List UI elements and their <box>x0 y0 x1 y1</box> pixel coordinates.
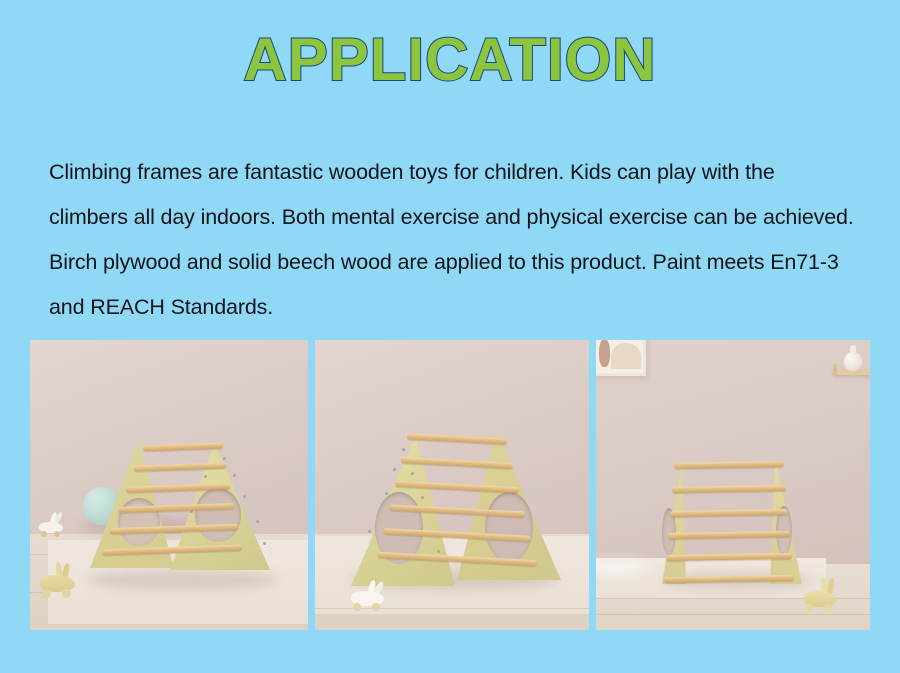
frame-fastener <box>411 472 414 475</box>
frame-fastener <box>437 550 440 553</box>
frame-fastener <box>421 496 424 499</box>
frame-fastener <box>402 448 405 451</box>
bunny-wheel <box>806 604 814 612</box>
page-title-container: APPLICATION <box>0 26 900 94</box>
bunny-wheel <box>62 589 71 598</box>
wood-bunny-toy <box>40 568 78 602</box>
bunny-wheel <box>54 531 60 537</box>
bunny-wheel <box>353 603 361 611</box>
white-bunny-toy <box>351 584 387 614</box>
frame-cutout-right <box>485 492 533 562</box>
frame-fastener <box>263 542 266 545</box>
frame-fastener <box>256 520 259 523</box>
description-paragraph: Climbing frames are fantastic wooden toy… <box>49 150 855 330</box>
frame-fastener <box>233 474 236 477</box>
bunny-wheel <box>41 531 47 537</box>
art-arch-shape <box>611 343 641 369</box>
art-bottle-shape <box>599 340 610 367</box>
page-title: APPLICATION <box>243 26 656 94</box>
white-bunny-toy <box>39 516 65 538</box>
wall-shelf-lip <box>833 364 837 375</box>
product-image-gallery <box>30 340 870 630</box>
product-photo-2[interactable] <box>315 340 589 630</box>
framed-wall-art <box>596 340 646 376</box>
frame-fastener <box>204 475 207 478</box>
bunny-wheel <box>42 589 51 598</box>
frame-fastener <box>368 530 371 533</box>
frame-fastener <box>385 492 388 495</box>
frame-fastener <box>223 457 226 460</box>
vase-neck <box>850 345 856 354</box>
bunny-wheel <box>372 603 380 611</box>
frame-fastener <box>243 495 246 498</box>
frame-fastener <box>393 468 396 471</box>
frame-cutout-right <box>195 488 241 542</box>
bunny-wheel <box>824 604 832 612</box>
application-slide: APPLICATION Climbing frames are fantasti… <box>0 0 900 673</box>
wood-bunny-toy <box>804 584 838 616</box>
product-photo-1[interactable] <box>30 340 308 630</box>
white-vase <box>844 352 862 371</box>
frame-shadow <box>88 570 278 590</box>
product-photo-3[interactable] <box>596 340 870 630</box>
